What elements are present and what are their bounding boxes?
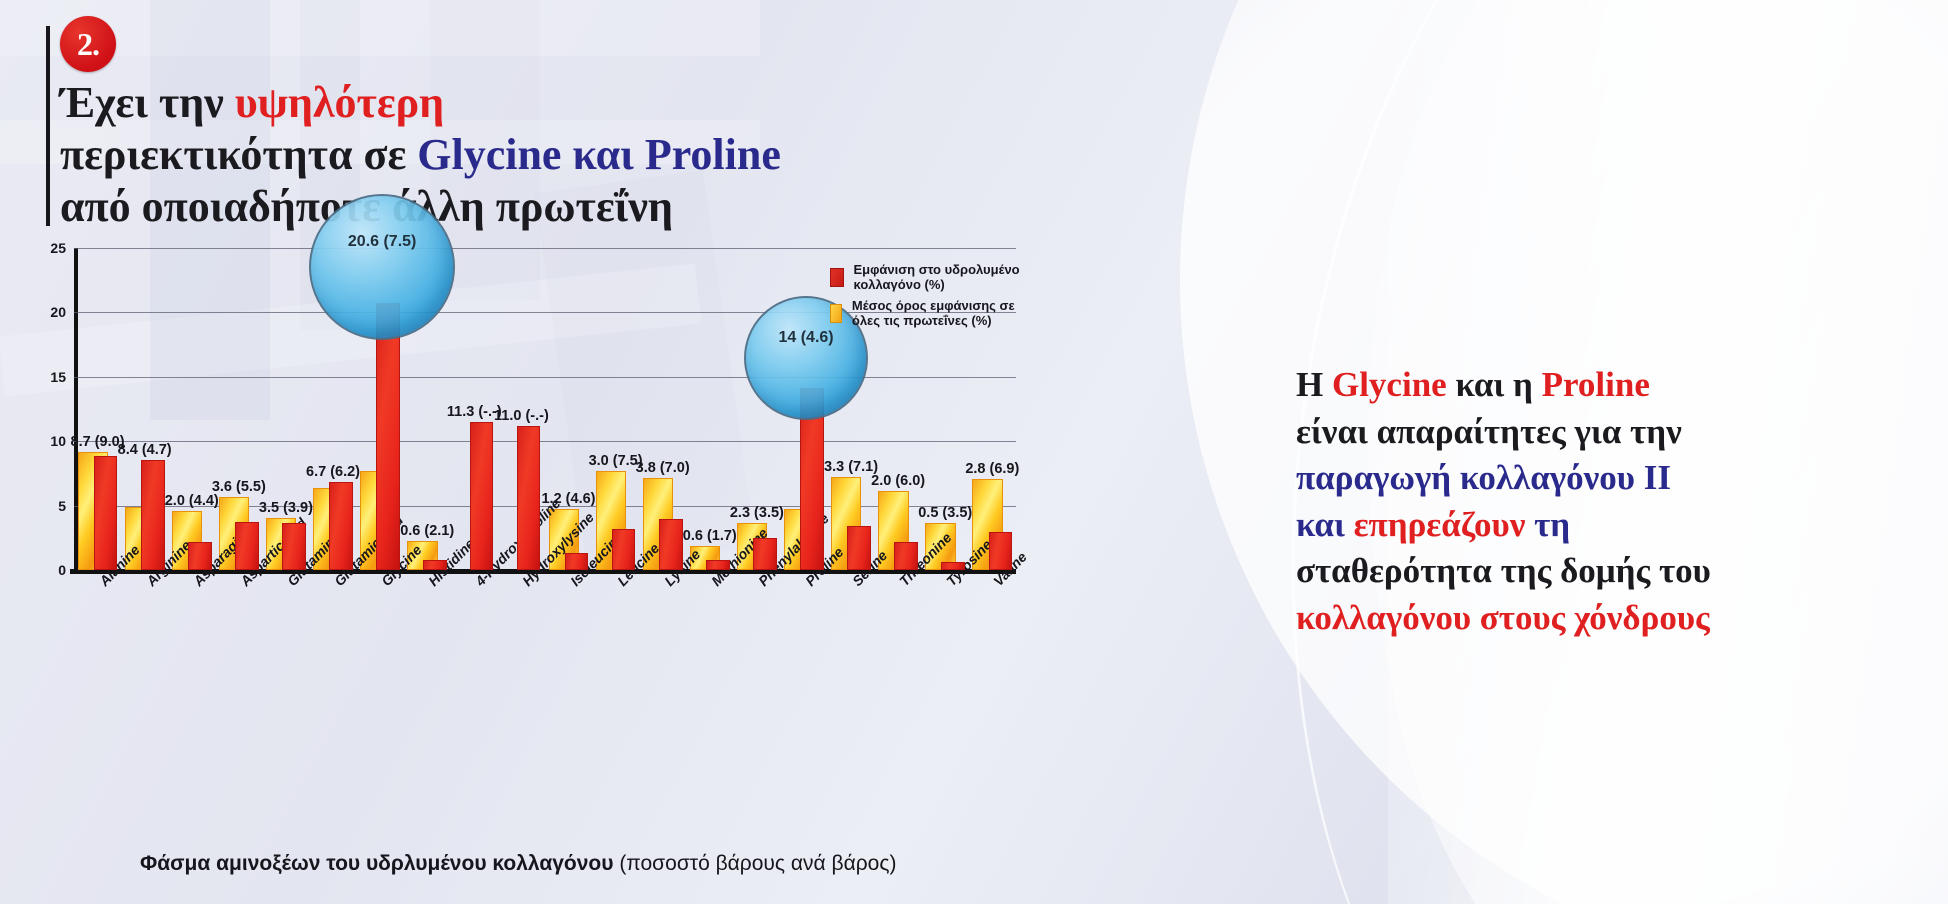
text-run: περιεκτικότητα σε: [60, 130, 417, 179]
side-paragraph: Η Glycine και η Prolineείναι απαραίτητες…: [1296, 362, 1936, 641]
legend-swatch-icon: [830, 268, 844, 287]
text-run: επηρεάζουν: [1354, 505, 1526, 544]
bar-data-label: 11.0 (-.-): [494, 408, 549, 424]
bar-data-label: 0.6 (2.1): [400, 523, 454, 539]
bar-hydrolysed-collagen: [753, 538, 777, 570]
bar-group[interactable]: 0.6 (1.7): [686, 248, 733, 570]
y-tick-label: 0: [30, 562, 66, 578]
bar-data-label: 3.6 (5.5): [212, 479, 266, 495]
text-run: κολλαγόνου στους χόνδρους: [1296, 598, 1710, 637]
bar-hydrolysed-collagen: [188, 542, 212, 570]
bar-data-label: 0.6 (1.7): [683, 528, 737, 544]
bar-hydrolysed-collagen: [989, 532, 1013, 570]
chart-legend: Εμφάνιση στο υδρολυμένο κολλαγόνο (%)Μέσ…: [830, 262, 1030, 334]
chart-caption-bold: Φάσμα αμινοξέων του υδρλυμένου κολλαγόνο…: [140, 852, 619, 875]
bar-hydrolysed-collagen: [894, 542, 918, 570]
bar-hydrolysed-collagen: [612, 529, 636, 570]
headline-line-1: Έχει την υψηλότερη: [60, 76, 444, 130]
side-paragraph-line-3: παραγωγή κολλαγόνου ΙΙ: [1296, 455, 1936, 502]
side-paragraph-line-1: Η Glycine και η Proline: [1296, 362, 1936, 409]
bar-group[interactable]: 8.4 (4.7): [121, 248, 168, 570]
y-tick-label: 20: [30, 304, 66, 320]
bar-data-label: 3.0 (7.5): [589, 453, 643, 469]
chart-caption: Φάσμα αμινοξέων του υδρλυμένου κολλαγόνο…: [140, 852, 896, 876]
text-run: και η: [1447, 365, 1542, 404]
side-paragraph-line-5: σταθερότητα της δομής του: [1296, 548, 1936, 595]
bar-group[interactable]: 8.7 (9.0): [74, 248, 121, 570]
glycine-callout-bubble[interactable]: 20.6 (7.5): [309, 194, 455, 340]
legend-item-1: Εμφάνιση στο υδρολυμένο κολλαγόνο (%): [830, 262, 1030, 292]
text-run: Η: [1296, 365, 1332, 404]
y-tick-label: 25: [30, 240, 66, 256]
bar-data-label: 2.0 (4.4): [165, 493, 219, 509]
bar-data-label: 3.8 (7.0): [636, 460, 690, 476]
text-run: είναι απαραίτητες για την: [1296, 412, 1682, 451]
bar-hydrolysed-collagen: [235, 522, 259, 570]
bar-data-label: 2.0 (6.0): [871, 473, 925, 489]
bar-hydrolysed-collagen: [94, 456, 118, 570]
bar-hydrolysed-collagen: [565, 553, 589, 570]
bar-hydrolysed-collagen: [376, 303, 400, 570]
text-run: υψηλότερη: [235, 78, 444, 127]
y-tick-label: 10: [30, 433, 66, 449]
bar-hydrolysed-collagen: [329, 482, 353, 570]
text-run: παραγωγή κολλαγόνου ΙΙ: [1296, 458, 1671, 497]
bar-data-label: 3.3 (7.1): [824, 459, 878, 475]
bar-hydrolysed-collagen: [941, 562, 965, 570]
headline-vertical-rule: [46, 26, 50, 226]
text-run: Proline: [1542, 365, 1650, 404]
step-number-badge: 2.: [60, 16, 116, 72]
side-paragraph-line-4: και επηρεάζουν τη: [1296, 502, 1936, 549]
bar-hydrolysed-collagen: [706, 560, 730, 570]
bar-data-label: 6.7 (6.2): [306, 464, 360, 480]
bar-data-label: 2.3 (3.5): [730, 505, 784, 521]
legend-swatch-icon: [830, 304, 842, 323]
bar-data-label: 2.8 (6.9): [965, 461, 1019, 477]
side-paragraph-line-2: είναι απαραίτητες για την: [1296, 409, 1936, 456]
text-run: και: [1296, 505, 1354, 544]
y-tick-label: 15: [30, 369, 66, 385]
bar-hydrolysed-collagen: [141, 460, 165, 570]
bar-group[interactable]: 11.0 (-.-): [498, 248, 545, 570]
amino-acid-bar-chart: 0510152025 8.7 (9.0)8.4 (4.7)2.0 (4.4)3.…: [20, 240, 1030, 570]
text-run: Glycine: [1332, 365, 1447, 404]
bar-group[interactable]: 2.0 (4.4): [168, 248, 215, 570]
y-tick-label: 5: [30, 498, 66, 514]
bar-hydrolysed-collagen: [470, 422, 494, 570]
text-run: σταθερότητα της δομής του: [1296, 551, 1711, 590]
legend-label: Μέσος όρος εμφάνισης σε όλες τις πρωτεΐν…: [852, 298, 1030, 328]
text-run: Glycine και Proline: [417, 130, 781, 179]
bar-group[interactable]: 3.6 (5.5): [215, 248, 262, 570]
headline-line-2: περιεκτικότητα σε Glycine και Proline: [60, 128, 781, 182]
bar-hydrolysed-collagen: [282, 523, 306, 570]
text-run: Έχει την: [60, 78, 235, 127]
bar-group[interactable]: 3.8 (7.0): [639, 248, 686, 570]
side-paragraph-line-6: κολλαγόνου στους χόνδρους: [1296, 595, 1936, 642]
bar-data-label: 8.4 (4.7): [118, 442, 172, 458]
bar-group[interactable]: 3.0 (7.5): [592, 248, 639, 570]
bar-hydrolysed-collagen: [423, 560, 447, 570]
text-run: τη: [1525, 505, 1570, 544]
callout-value-label: 20.6 (7.5): [311, 233, 453, 251]
bar-data-label: 3.5 (3.9): [259, 500, 313, 516]
bar-data-label: 1.2 (4.6): [541, 491, 595, 507]
bar-data-label: 0.5 (3.5): [918, 505, 972, 521]
legend-label: Εμφάνιση στο υδρολυμένο κολλαγόνο (%): [854, 262, 1031, 292]
bar-data-label: 8.7 (9.0): [71, 434, 125, 450]
legend-item-2: Μέσος όρος εμφάνισης σε όλες τις πρωτεΐν…: [830, 298, 1030, 328]
bar-group[interactable]: 11.3 (-.-): [451, 248, 498, 570]
bar-hydrolysed-collagen: [659, 519, 683, 570]
bar-hydrolysed-collagen: [517, 426, 541, 570]
bar-hydrolysed-collagen: [847, 526, 871, 571]
chart-caption-normal: (ποσοστό βάρους ανά βάρος): [619, 852, 896, 875]
